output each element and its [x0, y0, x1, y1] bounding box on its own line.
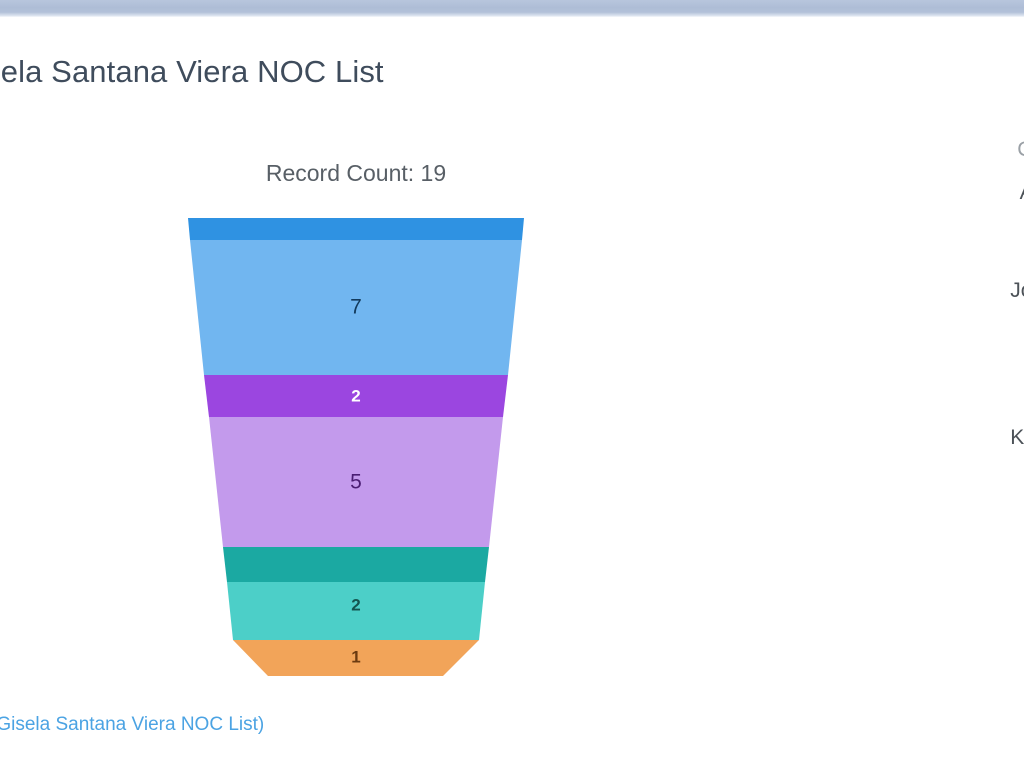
funnel-segment-4-cap[interactable]	[223, 547, 489, 582]
list-item[interactable]: Kwaiziah W	[700, 413, 1024, 462]
funnel-chart-panel: Record Count: 19 7 2 5 2 1	[0, 140, 720, 700]
funnel-segment-2-label: 2	[351, 386, 360, 405]
page-title: Gisela Santana Viera NOC List	[0, 52, 574, 92]
list-item[interactable]: Kiki Sim	[700, 364, 1024, 413]
funnel-segment-1-label: 7	[350, 296, 362, 319]
funnel-segment-4-label: 2	[351, 595, 360, 614]
source-report-link[interactable]: (Gisela Santana Viera NOC List)	[0, 712, 264, 738]
detail-list-column-header: CARE Prof	[700, 132, 1024, 168]
funnel-segment-1-cap[interactable]	[188, 218, 524, 240]
funnel-segment-1[interactable]: 7	[188, 218, 524, 375]
funnel-segment-5-label: 1	[351, 647, 360, 666]
list-item[interactable]: Johnny Sim	[700, 266, 1024, 315]
funnel-chart: 7 2 5 2 1	[0, 200, 712, 700]
funnel-segment-3-label: 5	[350, 471, 362, 494]
funnel-segment-2[interactable]: 2	[204, 375, 508, 417]
list-item[interactable]: Andrea Ho	[700, 168, 1024, 217]
detail-list-panel: CARE Prof Andrea Ho Idy Johnny Sim Ken K…	[700, 132, 1024, 511]
funnel-segment-3[interactable]: 5	[209, 417, 503, 547]
funnel-segment-5[interactable]: 1	[233, 640, 479, 676]
record-count-label: Record Count: 19	[0, 158, 712, 188]
funnel-segment-4[interactable]: 2	[223, 547, 489, 640]
app-top-chrome-bar	[0, 0, 1024, 17]
list-item[interactable]: Ken	[700, 315, 1024, 364]
list-item[interactable]: Idy	[700, 217, 1024, 266]
list-item[interactable]: Nikki He	[700, 462, 1024, 511]
